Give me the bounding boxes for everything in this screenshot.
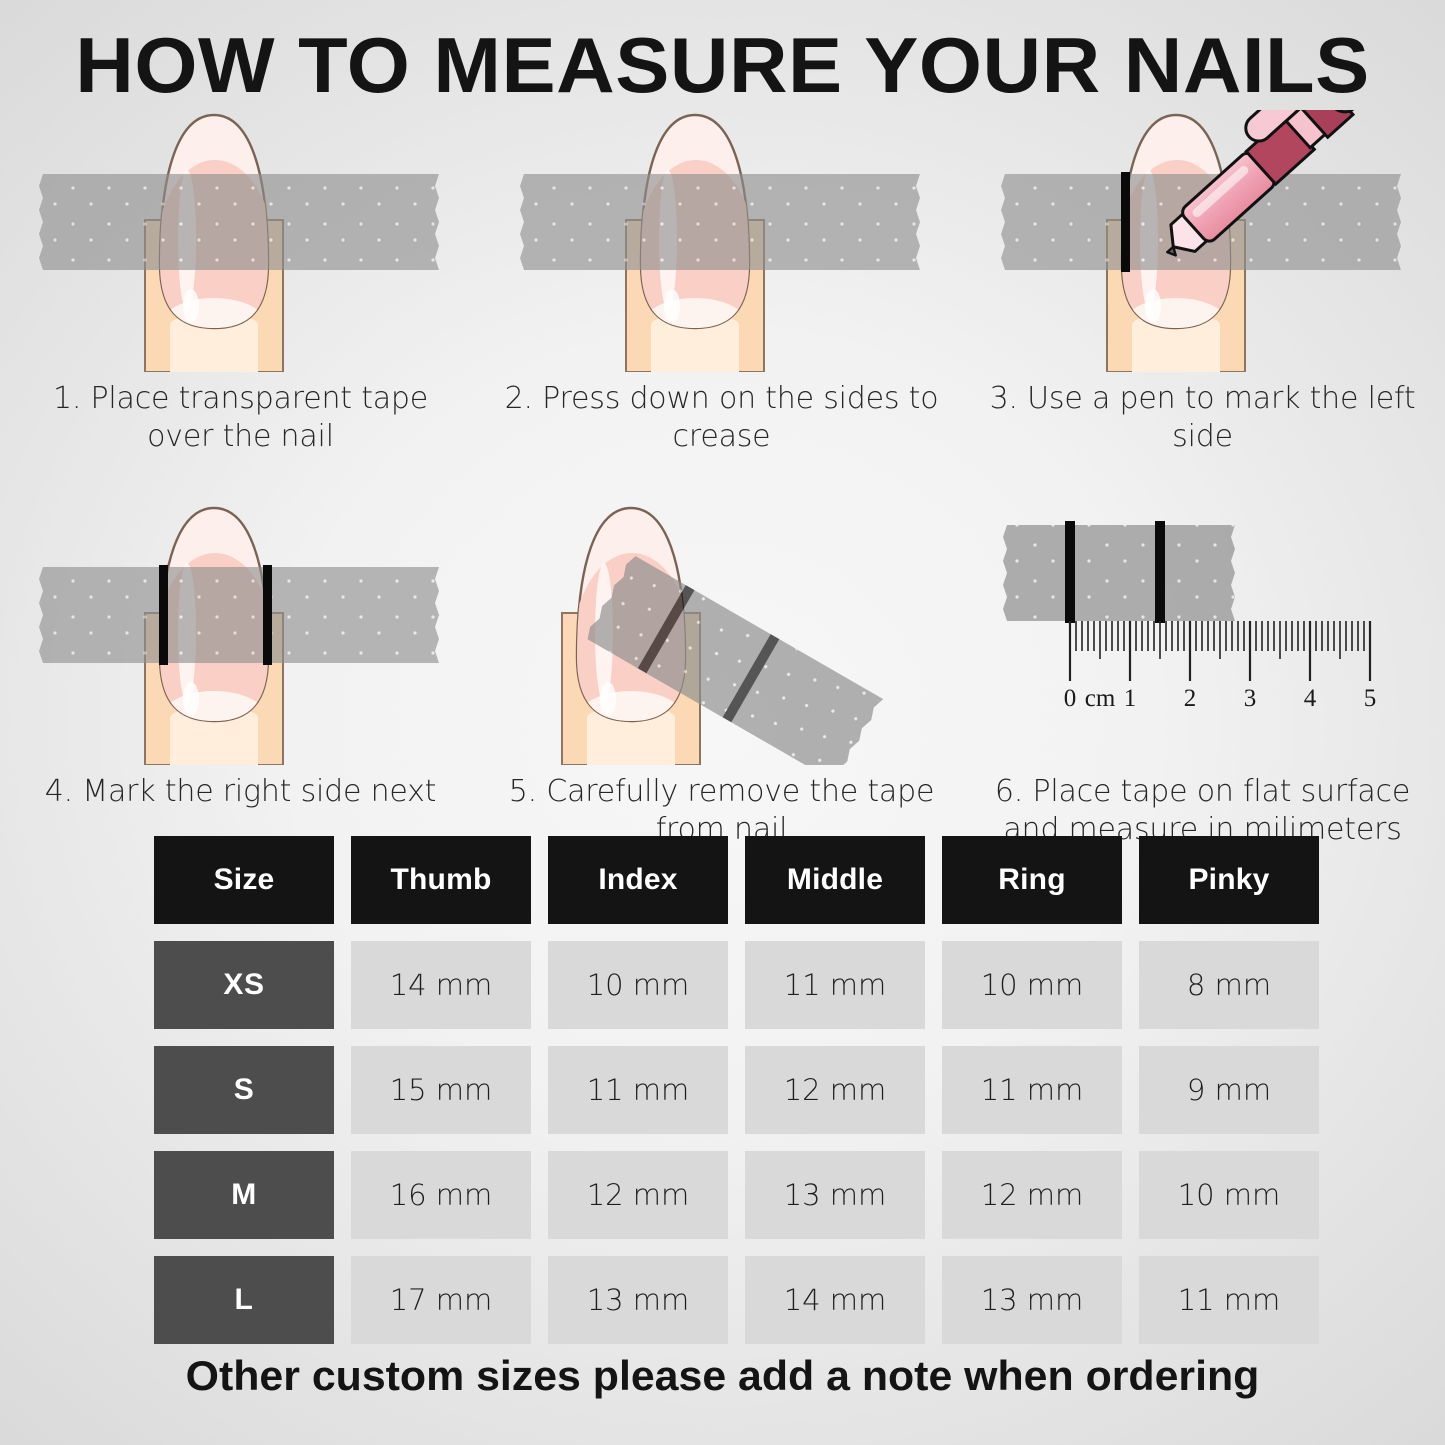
cell-s-pinky: 9 mm xyxy=(1139,1046,1319,1134)
column-header-size: Size xyxy=(154,836,334,924)
cell-l-ring: 13 mm xyxy=(942,1256,1122,1344)
step-2-caption: 2. Press down on the sides to crease xyxy=(502,372,942,457)
step-3-illustration xyxy=(993,110,1413,372)
step-3: 3. Use a pen to mark the left side xyxy=(962,110,1443,457)
step-6: 0 cm 1 2 3 4 5 6. Place tape on flat sur… xyxy=(962,503,1443,850)
cell-xs-index: 10 mm xyxy=(548,941,728,1029)
left-mark xyxy=(1065,521,1075,623)
cell-m-middle: 13 mm xyxy=(745,1151,925,1239)
step-3-caption: 3. Use a pen to mark the left side xyxy=(983,372,1423,457)
cell-m-ring: 12 mm xyxy=(942,1151,1122,1239)
step-5: 5. Carefully remove the tape from nail xyxy=(481,503,962,850)
ruler-tick-4: 4 xyxy=(1303,685,1316,712)
step-4: 4. Mark the right side next xyxy=(0,503,481,850)
left-mark xyxy=(159,565,168,665)
cell-s-middle: 12 mm xyxy=(745,1046,925,1134)
cell-s-index: 11 mm xyxy=(548,1046,728,1134)
column-header-ring: Ring xyxy=(942,836,1122,924)
column-header-middle: Middle xyxy=(745,836,925,924)
steps-row-2: 4. Mark the right side next xyxy=(0,503,1445,850)
cell-l-thumb: 17 mm xyxy=(351,1256,531,1344)
step-2: 2. Press down on the sides to crease xyxy=(481,110,962,457)
right-mark xyxy=(263,565,272,665)
size-label-s: S xyxy=(154,1046,334,1134)
table-row: M 16 mm 12 mm 13 mm 12 mm 10 mm xyxy=(154,1151,1326,1239)
step-1-illustration xyxy=(31,110,451,372)
step-2-illustration xyxy=(512,110,932,372)
right-mark xyxy=(1155,521,1165,623)
ruler-tick-0: 0 xyxy=(1063,685,1076,712)
ruler-tick-1: 1 xyxy=(1123,685,1136,712)
cell-xs-thumb: 14 mm xyxy=(351,941,531,1029)
step-4-caption: 4. Mark the right side next xyxy=(21,765,461,811)
transparent-tape xyxy=(39,567,439,663)
cell-xs-pinky: 8 mm xyxy=(1139,941,1319,1029)
column-header-thumb: Thumb xyxy=(351,836,531,924)
steps-grid: 1. Place transparent tape over the nail xyxy=(0,110,1445,850)
column-header-pinky: Pinky xyxy=(1139,836,1319,924)
page-title: HOW TO MEASURE YOUR NAILS xyxy=(0,26,1445,104)
step-6-illustration: 0 cm 1 2 3 4 5 xyxy=(993,503,1413,765)
cell-l-pinky: 11 mm xyxy=(1139,1256,1319,1344)
table-row: XS 14 mm 10 mm 11 mm 10 mm 8 mm xyxy=(154,941,1326,1029)
step-1-caption: 1. Place transparent tape over the nail xyxy=(21,372,461,457)
ruler-tick-2: 2 xyxy=(1183,685,1196,712)
cell-m-thumb: 16 mm xyxy=(351,1151,531,1239)
table-row: L 17 mm 13 mm 14 mm 13 mm 11 mm xyxy=(154,1256,1326,1344)
cell-xs-ring: 10 mm xyxy=(942,941,1122,1029)
step-1: 1. Place transparent tape over the nail xyxy=(0,110,481,457)
left-mark xyxy=(1121,172,1130,272)
ruler-unit-label: cm xyxy=(1084,685,1115,712)
table-row: S 15 mm 11 mm 12 mm 11 mm 9 mm xyxy=(154,1046,1326,1134)
size-label-m: M xyxy=(154,1151,334,1239)
ruler-tick-5: 5 xyxy=(1363,685,1376,712)
step-5-illustration xyxy=(512,503,932,765)
cell-l-middle: 14 mm xyxy=(745,1256,925,1344)
ruler-tick-3: 3 xyxy=(1243,685,1256,712)
transparent-tape xyxy=(39,174,439,270)
ruler xyxy=(1070,621,1370,681)
size-chart-table: Size Thumb Index Middle Ring Pinky XS 14… xyxy=(154,836,1326,1361)
custom-sizes-note: Other custom sizes please add a note whe… xyxy=(0,1352,1445,1400)
table-header-row: Size Thumb Index Middle Ring Pinky xyxy=(154,836,1326,924)
tape-on-surface xyxy=(1003,525,1235,621)
cell-l-index: 13 mm xyxy=(548,1256,728,1344)
cell-m-index: 12 mm xyxy=(548,1151,728,1239)
cell-xs-middle: 11 mm xyxy=(745,941,925,1029)
size-label-xs: XS xyxy=(154,941,334,1029)
steps-row-1: 1. Place transparent tape over the nail xyxy=(0,110,1445,457)
cell-m-pinky: 10 mm xyxy=(1139,1151,1319,1239)
column-header-index: Index xyxy=(548,836,728,924)
size-label-l: L xyxy=(154,1256,334,1344)
transparent-tape-creased xyxy=(520,174,920,270)
step-4-illustration xyxy=(31,503,451,765)
ruler-labels: 0 cm 1 2 3 4 5 xyxy=(1063,685,1376,712)
cell-s-ring: 11 mm xyxy=(942,1046,1122,1134)
cell-s-thumb: 15 mm xyxy=(351,1046,531,1134)
